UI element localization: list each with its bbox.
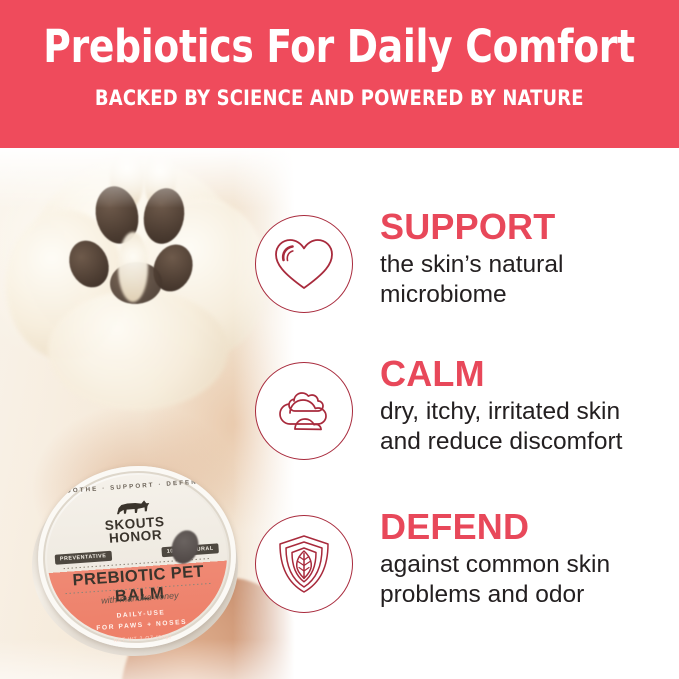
infographic-page: Prebiotics For Daily Comfort BACKED BY S…: [0, 0, 679, 679]
feature-body-defend-line1: against common skin: [380, 551, 610, 578]
header-banner: Prebiotics For Daily Comfort BACKED BY S…: [0, 0, 679, 148]
feature-heading-support: SUPPORT: [380, 208, 672, 246]
cloud-icon: [272, 386, 336, 436]
feature-body-support-line1: the skin’s natural: [380, 251, 563, 278]
feature-body-defend-line2: problems and odor: [380, 581, 584, 608]
feature-support: SUPPORT the skin’s natural microbiome: [380, 208, 672, 310]
tin-label: · SOOTHE · SUPPORT · DEFEND · SKOUTS HON…: [41, 469, 232, 645]
product-tin: · SOOTHE · SUPPORT · DEFEND · SKOUTS HON…: [32, 466, 238, 662]
feature-icon-circle-defend: [255, 515, 353, 613]
feature-calm: CALM dry, itchy, irritated skin and redu…: [380, 355, 672, 457]
feature-body-calm-line2: and reduce discomfort: [380, 428, 622, 455]
feature-icon-circle-support: [255, 215, 353, 313]
page-subtitle: BACKED BY SCIENCE AND POWERED BY NATURE: [95, 86, 584, 110]
shield-leaf-icon: [275, 533, 333, 595]
page-title: Prebiotics For Daily Comfort: [44, 22, 636, 72]
tin-badge-preventative: PREVENTATIVE: [55, 551, 112, 565]
feature-body-defend: against common skin problems and odor: [380, 550, 672, 610]
tin-arc-text: · SOOTHE · SUPPORT · DEFEND ·: [42, 477, 222, 497]
feature-body-calm-line1: dry, itchy, irritated skin: [380, 398, 620, 425]
feature-heading-defend: DEFEND: [380, 508, 672, 546]
feature-defend: DEFEND against common skin problems and …: [380, 508, 672, 610]
feature-body-support: the skin’s natural microbiome: [380, 250, 672, 310]
feature-body-calm: dry, itchy, irritated skin and reduce di…: [380, 397, 672, 457]
feature-body-support-line2: microbiome: [380, 281, 507, 308]
feature-icon-circle-calm: [255, 362, 353, 460]
heart-icon: [273, 236, 335, 292]
feature-heading-calm: CALM: [380, 355, 672, 393]
